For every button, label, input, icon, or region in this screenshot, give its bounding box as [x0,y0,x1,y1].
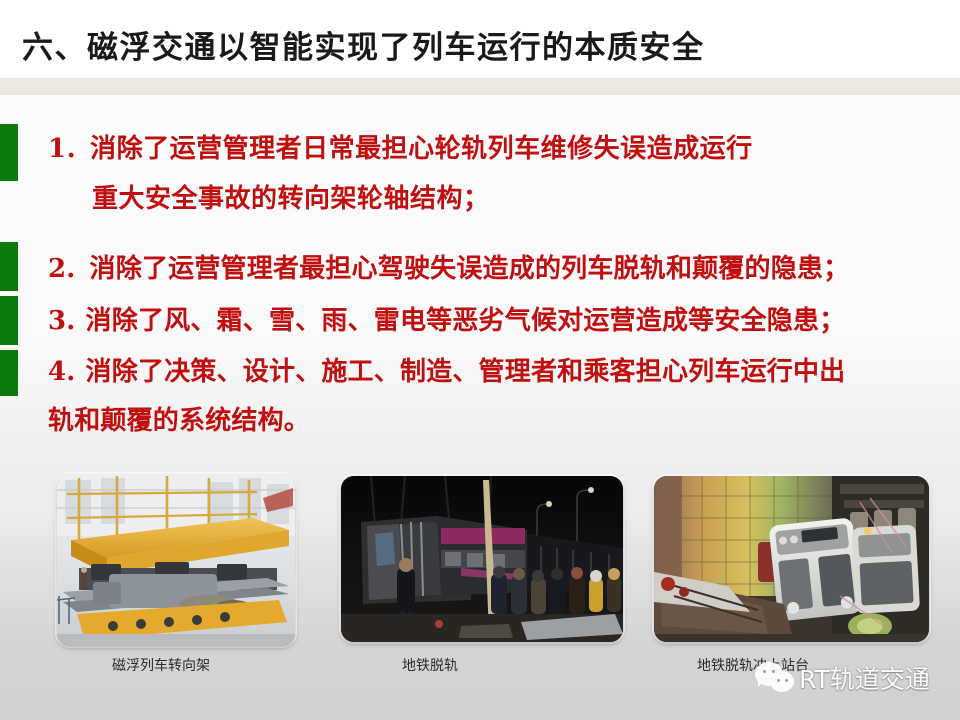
bullet-text-1-line1: 消除了运营管理者日常最担心轮轨列车维修失误造成运行 [90,128,753,165]
bullet-text-2-line1: 消除了运营管理者最担心驾驶失误造成的列车脱轨和颠覆的隐患； [90,248,850,285]
derail-onto-platform-image [654,476,929,642]
photo-subway-derailment [341,476,623,642]
watermark: RT轨道交通 [755,660,930,696]
photo-caption-1: 磁浮列车转向架 [112,655,210,675]
green-marker-bar-2 [0,242,18,291]
page-title: 六、磁浮交通以智能实现了列车运行的本质安全 [22,22,705,67]
bullet-number-1: 1. [48,134,76,164]
photo-maglev-bogie [57,474,295,646]
bullet-number-2: 2. [48,254,76,284]
subway-derailment-image [341,476,623,642]
wechat-icon [755,660,797,696]
bullet-number-4: 4. [48,357,76,387]
green-marker-bar-3 [0,296,18,345]
maglev-bogie-image [57,474,295,646]
green-marker-bar-4 [0,350,18,396]
green-marker-bar-1 [0,124,18,181]
bullet-item-4-continuation: 轨和颠覆的系统结构。 [48,400,310,437]
bullet-number-3: 3. [48,306,76,336]
title-divider-band [0,78,960,95]
bullet-text-4-line1: 消除了决策、设计、施工、制造、管理者和乘客担心列车运行中出 [86,351,846,388]
bullet-text-3-line1: 消除了风、霜、雪、雨、雷电等恶劣气候对运营造成等安全隐患； [86,300,846,337]
bullet-text-1-line2: 重大安全事故的转向架轮轴结构； [92,178,490,215]
watermark-text: RT轨道交通 [799,660,930,696]
bullet-item-4: 4.消除了决策、设计、施工、制造、管理者和乘客担心列车运行中出 [48,351,845,388]
bullet-item-2: 2.消除了运营管理者最担心驾驶失误造成的列车脱轨和颠覆的隐患； [48,248,849,285]
bullet-text-4-line2: 轨和颠覆的系统结构。 [48,400,310,437]
bullet-item-1: 1.消除了运营管理者日常最担心轮轨列车维修失误造成运行 [48,128,753,165]
photo-subway-derail-onto-platform [654,476,929,642]
bullet-item-3: 3.消除了风、霜、雪、雨、雷电等恶劣气候对运营造成等安全隐患； [48,300,845,337]
title-area: 六、磁浮交通以智能实现了列车运行的本质安全 [0,0,960,78]
photo-row [0,468,960,648]
photo-caption-2: 地铁脱轨 [402,655,458,675]
presentation-slide: 六、磁浮交通以智能实现了列车运行的本质安全 1.消除了运营管理者日常最担心轮轨列… [0,0,960,720]
bullet-item-1-continuation: 重大安全事故的转向架轮轴结构； [92,178,490,215]
